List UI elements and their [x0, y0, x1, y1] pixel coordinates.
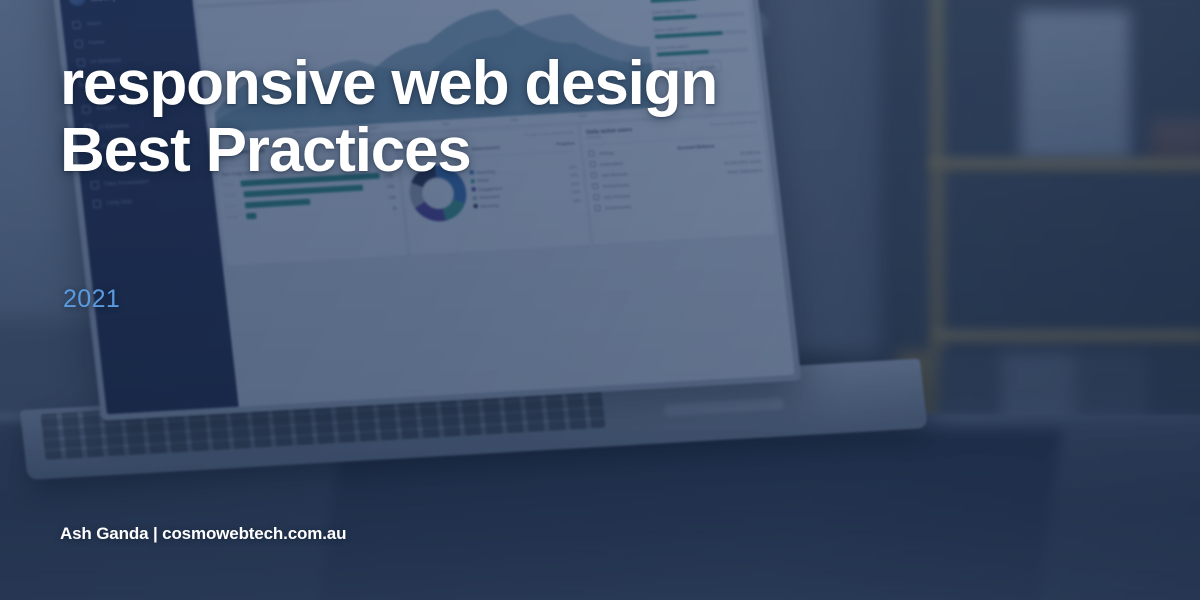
- blog-banner: Sample Welcome, Anthony Mulloys HomeForm…: [0, 0, 1200, 600]
- banner-foreground: responsive web design Best Practices 202…: [0, 0, 1200, 600]
- headline-line-2: Best Practices: [60, 121, 717, 182]
- year-label: 2021: [63, 285, 120, 314]
- author-credit: Ash Ganda | cosmowebtech.com.au: [60, 524, 346, 544]
- page-title: responsive web design Best Practices: [60, 54, 717, 182]
- headline-line-1: responsive web design: [60, 49, 717, 118]
